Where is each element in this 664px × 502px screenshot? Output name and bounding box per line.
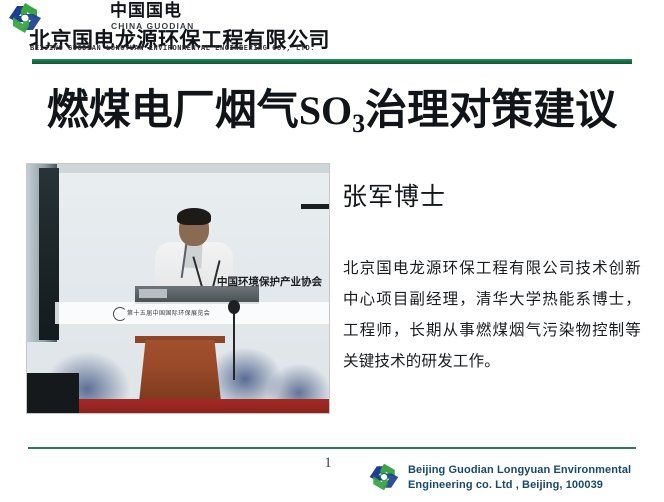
speaker-name: 张军博士 [342, 181, 446, 213]
title-part-1: 燃煤电厂烟气 [47, 85, 299, 134]
title-part-2: 治理对策建议 [365, 85, 617, 134]
footer-divider [28, 447, 636, 449]
photo-dark-bar [301, 204, 329, 209]
photo-foreground-shadow [27, 373, 79, 413]
speaker-biography: 北京国电龙源环保工程有限公司技术创新中心项目副经理，清华大学热能系博士，工程师，… [343, 253, 641, 377]
footer-line-1: Beijing Guodian Longyuan Environmental [408, 464, 631, 476]
photo-speaker-hair [177, 208, 211, 225]
speaker-photo: 中国环境保护产业协会 第十五届中国国际环保展览会 [27, 164, 329, 413]
footer-line-2: Engineering co. Ltd , Beijing, 100039 [408, 478, 631, 493]
title-formula-so: SO [299, 88, 352, 133]
photo-mic-stand [233, 306, 235, 380]
photo-banner-text: 中国环境保护产业协会 [217, 274, 322, 289]
photo-mic-head [228, 300, 240, 314]
slide-title: 燃煤电厂烟气SO3治理对策建议 [0, 84, 664, 150]
footer-guodian-pinwheel-logo-icon [367, 462, 401, 492]
header-divider [32, 59, 632, 64]
photo-podium [139, 340, 221, 402]
title-formula-subscript: 3 [352, 109, 365, 138]
photo-event-banner-text: 第十五届中国国际环保展览会 [127, 308, 210, 317]
slide-header: 中国国电 CHINA GUODIAN 北京国电龙源环保工程有限公司 BEIJIN… [0, 0, 664, 62]
photo-event-logo-icon [113, 307, 127, 321]
photo-ceiling-strip [44, 164, 329, 173]
page-number: 1 [318, 455, 338, 472]
presentation-slide: 中国国电 CHINA GUODIAN 北京国电龙源环保工程有限公司 BEIJIN… [0, 0, 664, 502]
footer-company-text: Beijing Guodian Longyuan Environmental E… [408, 463, 631, 493]
photo-laptop [139, 289, 167, 298]
company-name-en: BEIJING GUODIAN LONGYUAN ENVIRONMENTAL E… [30, 45, 315, 53]
brand-name-cn: 中国国电 [110, 1, 182, 21]
